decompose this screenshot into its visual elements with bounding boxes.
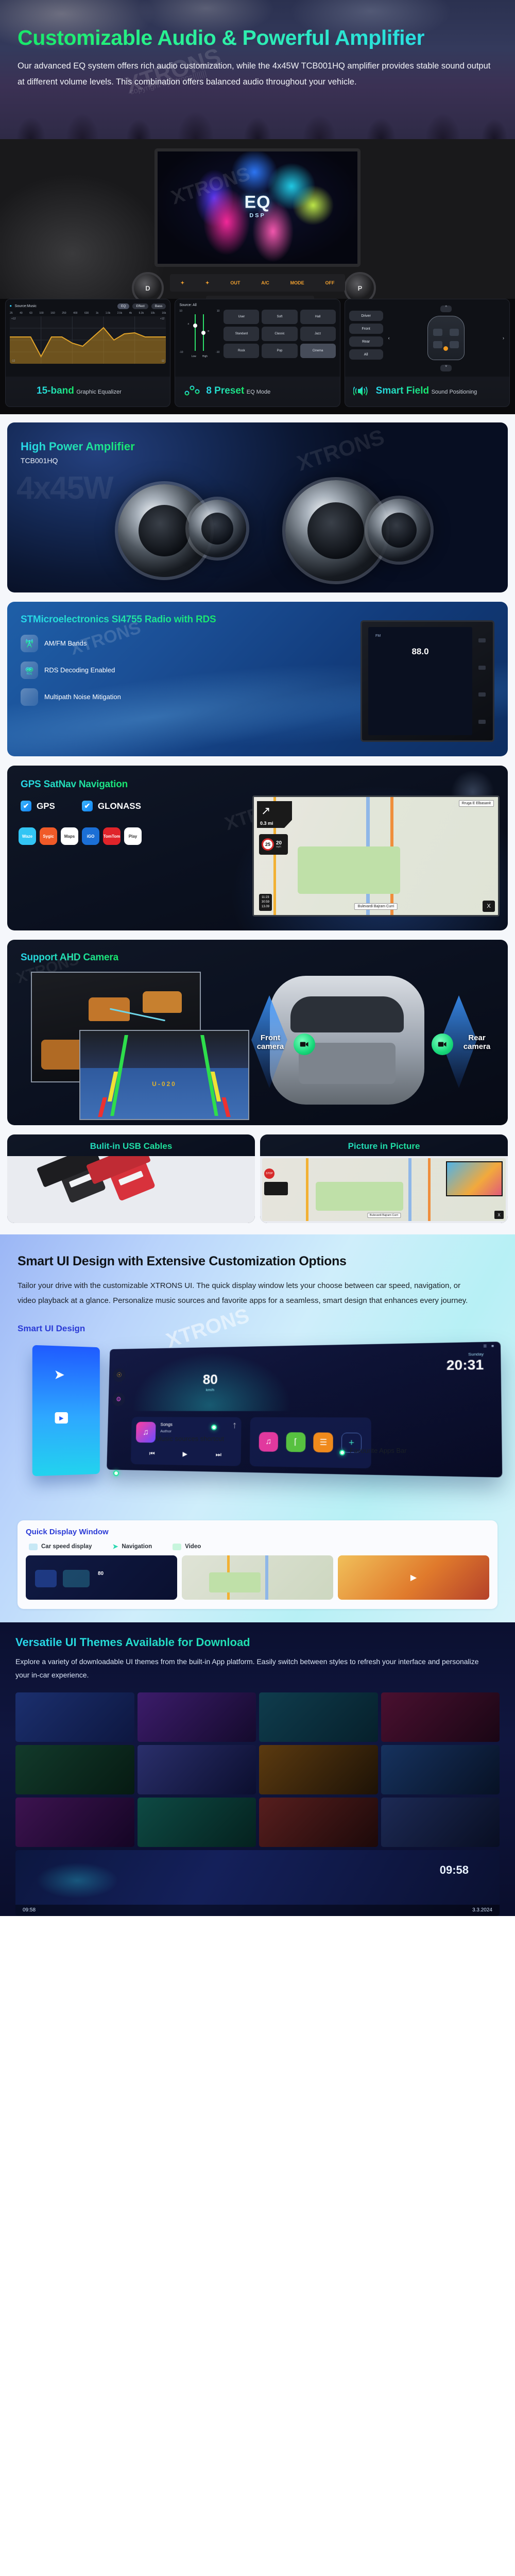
theme-tile[interactable] [259, 1745, 378, 1794]
eta-panel: 11:23 30:59 13.09 [259, 894, 272, 911]
sound-focus-marker[interactable] [443, 346, 448, 351]
feature-label-smartfield: Smart Field Sound Positioning [345, 377, 509, 406]
equalizer-screenshot: ⏺ Source:Music EQ Effect Bass 25 40 63 1… [6, 299, 170, 377]
quick-display-window-card: Quick Display Window Car speed display ➤… [18, 1520, 497, 1609]
previous-track-icon[interactable]: ⏮ [149, 1450, 155, 1458]
axis-label-top-right: +12 [160, 317, 164, 320]
tab-label: Video [185, 1544, 201, 1550]
speed-gauge[interactable]: 80 km/h [132, 1351, 292, 1411]
head-unit-ui-screen[interactable]: ☰ ■ ☉ ⚙ 80 km/h Sunday 20:31 ♫ [107, 1342, 502, 1478]
tab-bass[interactable]: Bass [151, 303, 166, 309]
chevron-down-icon[interactable]: ˅ [440, 365, 452, 371]
dual-card-row: Bulit-in USB Cables Picture in Picture [7, 1134, 508, 1223]
rds-icon: RDS [21, 662, 38, 679]
zone-rear[interactable]: Rear [349, 336, 383, 347]
feature-text-preset: 8 Preset EQ Mode [206, 386, 270, 396]
glonass-checkbox-item[interactable]: ✔ GLONASS [82, 801, 141, 811]
car-seat-map[interactable]: ^ ˅ ‹ › [387, 303, 505, 372]
bullet-label: Multipath Noise Mitigation [44, 693, 121, 701]
bullet-label: AM/FM Bands [44, 639, 87, 648]
power-icon[interactable]: ⏺ [10, 304, 12, 309]
smart-ui-stage: ☰ ■ ☉ ⚙ 80 km/h Sunday 20:31 ♫ [18, 1341, 497, 1511]
list-item: Multipath Noise Mitigation [21, 688, 121, 706]
favourite-apps-bar[interactable]: ♫ ⌈ ☰ + [250, 1417, 371, 1468]
feature-card-smartfield[interactable]: Driver Front Rear All ^ ˅ ‹ › [345, 299, 510, 407]
glonass-check-label: GLONASS [98, 801, 141, 811]
feature-subtitle: EQ Mode [247, 389, 270, 395]
speaker-graphic [368, 499, 431, 562]
freq-tick: 630 [84, 312, 89, 315]
music-title: Songs [160, 1422, 228, 1427]
pip-screenshot: STOP Bulevardi Bajram Curri X [260, 1156, 508, 1223]
theme-tile[interactable] [259, 1798, 378, 1847]
usb-card-title: Bulit-in USB Cables [7, 1134, 255, 1156]
gps-check-label: GPS [37, 801, 55, 811]
theme-featured-tile[interactable]: 09:58 3.3.2024 09:58 [15, 1850, 500, 1916]
theme-preview-clock: 09:58 [440, 1863, 469, 1877]
theme-status-bar: 09:58 3.3.2024 [15, 1905, 500, 1916]
settings-gear-icon[interactable]: ⚙ [112, 1393, 125, 1406]
eq-feature-card-row: ⏺ Source:Music EQ Effect Bass 25 40 63 1… [0, 299, 515, 414]
callout-dot [211, 1425, 217, 1430]
app-icon-play[interactable]: Play [124, 827, 142, 845]
app-icon-igo[interactable]: iGO [82, 827, 99, 845]
feature-text-smartfield: Smart Field Sound Positioning [376, 386, 477, 396]
theme-tile[interactable] [381, 1692, 500, 1742]
slider-low[interactable]: 4 [195, 314, 196, 351]
turn-distance: 0.3 mi [260, 821, 273, 826]
feature-title: Smart Field [376, 385, 429, 396]
themes-paragraph: Explore a variety of downloadable UI the… [15, 1655, 479, 1682]
slider-low-handle[interactable] [193, 324, 197, 328]
preset-standard[interactable]: Standard [224, 327, 259, 341]
feature-text-equalizer: 15-band Graphic Equalizer [37, 386, 122, 396]
play-icon[interactable]: ▶ [182, 1450, 187, 1458]
play-icon[interactable]: ▶ [410, 1572, 417, 1583]
speedometer-icon [29, 1544, 38, 1550]
plate-number: U-020 [152, 1080, 177, 1088]
current-speed: 20 [276, 841, 282, 846]
callout-dot [113, 1470, 119, 1476]
smart-ui-section: Smart UI Design with Extensive Customiza… [0, 1234, 515, 1622]
app-icon-music[interactable]: ♫ [259, 1432, 278, 1452]
tab-video[interactable]: Video [173, 1543, 201, 1551]
freq-tick: 160 [50, 312, 55, 315]
ahd-section: Support AHD Camera XTRONS U-020 [0, 939, 515, 1133]
freq-tick: 1.6k [106, 312, 110, 315]
eq-badge-main: EQ [244, 192, 270, 212]
speed-limit-sign: 25 [262, 838, 274, 851]
front-camera-label-line1: Front [261, 1033, 280, 1042]
preset-soft[interactable]: Soft [262, 310, 297, 324]
clock-time: 20:31 [447, 1357, 484, 1374]
radio-card: STMicroelectronics SI4755 Radio with RDS… [7, 602, 508, 756]
callout-music-shortcut: Music sources shortcut [156, 1435, 224, 1443]
product-page: XTRONS copyright by xtrons||||||| Custom… [0, 0, 515, 1916]
radio-bullet-list: AM/FM Bands RDS [21, 635, 121, 715]
eq-curve-svg [10, 316, 166, 364]
status-time: 09:58 [23, 1907, 36, 1913]
smart-ui-heading: Smart UI Design with Extensive Customiza… [18, 1253, 497, 1270]
tab-label: Car speed display [41, 1544, 92, 1550]
rear-camera-icon [432, 1033, 453, 1055]
hero-section: XTRONS copyright by xtrons||||||| Custom… [0, 0, 515, 139]
theme-tile[interactable] [259, 1692, 378, 1742]
preset-button-grid: User Soft Hall Standard Classic Jazz Roc… [224, 310, 335, 358]
list-item: RDS RDS Decoding Enabled [21, 662, 121, 679]
app-icon-maps[interactable]: Maps [61, 827, 78, 845]
eq-badge: EQ DSP [244, 192, 270, 218]
zone-driver[interactable]: Driver [349, 311, 383, 321]
theme-tile-grid: 09:58 3.3.2024 09:58 [15, 1692, 500, 1916]
source-label: Source:Music [15, 304, 37, 308]
preset-hall[interactable]: Hall [300, 310, 336, 324]
turn-instruction-panel: ↗ 0.3 mi [257, 801, 292, 828]
radio-head-unit-photo: 88.0 FM [360, 620, 494, 742]
pip-card-title: Picture in Picture [260, 1134, 508, 1156]
freq-tick: 400 [73, 312, 77, 315]
app-icon-shop[interactable]: ⌈ [286, 1432, 305, 1452]
next-track-icon[interactable]: ⏭ [216, 1450, 221, 1459]
hero-paragraph: Our advanced EQ system offers rich audio… [18, 58, 497, 90]
speaker-graphic [188, 500, 246, 557]
speed-unit: km/h [206, 1387, 214, 1392]
navigation-arrow-icon: ➤ [112, 1543, 118, 1551]
scale-bottom-left: -10 [179, 351, 183, 354]
axis-label-top-left: +12 [11, 317, 15, 320]
chevron-left-icon[interactable]: ‹ [388, 335, 390, 341]
freq-tick: 40 [20, 312, 23, 315]
ahd-title: Support AHD Camera [21, 952, 118, 963]
feature-card-equalizer[interactable]: ⏺ Source:Music EQ Effect Bass 25 40 63 1… [5, 299, 170, 407]
slider-high[interactable]: 0 [203, 314, 204, 351]
street-name-top: Rruga E Elbasanit [459, 800, 494, 807]
watermark-text: XTRONS [294, 425, 387, 476]
amplifier-watt-watermark: 4x45W [16, 470, 112, 506]
preset-screenshot: Source: All 10 10 4 [175, 299, 339, 377]
theme-tile[interactable] [381, 1798, 500, 1847]
preset-classic[interactable]: Classic [262, 327, 297, 341]
radio-title: STMicroelectronics SI4755 Radio with RDS [21, 614, 216, 625]
feature-title: 15-band [37, 385, 74, 396]
chevron-right-icon[interactable]: › [503, 335, 504, 341]
hvac-button-mode[interactable]: MODE [290, 280, 304, 285]
smartfield-screenshot: Driver Front Rear All ^ ˅ ‹ › [345, 299, 509, 377]
axis-label-bottom-left: -12 [11, 360, 15, 363]
close-map-button[interactable]: X [483, 901, 495, 912]
callout-dot [339, 1450, 345, 1455]
clock-widget[interactable]: Sunday 20:31 [447, 1352, 484, 1374]
preset-header: Source: All [179, 303, 335, 307]
car-outline-graphic [427, 316, 465, 360]
freq-tick: 2.5k [117, 312, 122, 315]
theme-tile[interactable] [15, 1692, 134, 1742]
preset-rock[interactable]: Rock [224, 344, 259, 358]
pip-video-window[interactable] [446, 1161, 503, 1196]
gps-checkbox-row: ✔ GPS ✔ GLONASS [21, 801, 141, 811]
front-camera-label-line2: camera [257, 1042, 284, 1051]
svg-text:RDS: RDS [27, 672, 32, 675]
list-item: AM/FM Bands [21, 635, 121, 652]
check-icon: ✔ [21, 801, 31, 811]
gps-title: GPS SatNav Navigation [21, 779, 128, 790]
axis-label-bottom-right: -12 [161, 360, 164, 363]
freq-tick: 25 [10, 312, 13, 315]
radio-section: STMicroelectronics SI4755 Radio with RDS… [0, 601, 515, 765]
eta-value: 11:23 [262, 895, 269, 900]
eta-value: 30:59 [262, 900, 269, 905]
radio-tower-icon [21, 635, 38, 652]
zone-all[interactable]: All [349, 349, 383, 360]
usb-cable-photo [7, 1156, 255, 1223]
theme-tile[interactable] [138, 1745, 256, 1794]
tab-navigation[interactable]: ➤ Navigation [112, 1543, 152, 1551]
feature-label-preset: 8 Preset EQ Mode [175, 377, 339, 406]
amplifier-section: High Power Amplifier TCB001HQ 4x45W XTRO… [0, 414, 515, 601]
scale-top-left: 10 [179, 310, 182, 313]
hvac-button-ac[interactable]: A/C [261, 280, 269, 285]
rear-camera-label-line1: Rear [468, 1033, 485, 1042]
freq-tick: 6.3k [139, 312, 144, 315]
navigation-arrow-icon[interactable]: ➤ [54, 1366, 65, 1383]
hvac-button-row: ✦ ✦ OUT A/C MODE OFF [170, 274, 345, 292]
smart-ui-paragraph: Tailor your drive with the customizable … [18, 1278, 481, 1309]
battery-icon: ■ [491, 1344, 494, 1348]
app-icon-waze[interactable]: Waze [19, 827, 36, 845]
app-icon-files[interactable]: ☰ [314, 1432, 334, 1452]
eq-badge-sub: DSP [244, 212, 270, 218]
themes-section: Versatile UI Themes Available for Downlo… [0, 1622, 515, 1916]
video-icon[interactable]: ▶ [55, 1412, 68, 1423]
preview-car-speed[interactable]: 80 [26, 1555, 177, 1600]
left-rail: ☉ ⚙ [112, 1368, 129, 1406]
quick-display-heading: Quick Display Window [26, 1528, 489, 1536]
callout-favourite-apps: Favourite Apps Bar [350, 1447, 407, 1454]
tab-eq[interactable]: EQ [117, 303, 129, 309]
check-icon: ✔ [82, 801, 93, 811]
equalizer-header: ⏺ Source:Music EQ Effect Bass [10, 303, 166, 309]
theme-tile[interactable] [15, 1745, 134, 1794]
slider-high-handle[interactable] [201, 331, 205, 335]
eq-showcase-section: EQ DSP D P ✦ ✦ OUT A/C MODE OFF ☀ ☰ AUTO… [0, 139, 515, 414]
head-unit-screen: EQ DSP [154, 148, 360, 267]
theme-tile[interactable] [15, 1798, 134, 1847]
pip-card[interactable]: Picture in Picture STOP Bulevardi Bajram… [260, 1134, 508, 1223]
frequency-tick-labels: 25 40 63 100 160 250 400 630 1k 1.6k 2.5… [10, 312, 166, 315]
rear-camera-label: Rear camera [456, 1033, 497, 1052]
slider-label-low: Low [192, 355, 196, 358]
freq-tick: 10k [151, 312, 155, 315]
tab-car-speed-display[interactable]: Car speed display [29, 1543, 92, 1551]
eta-value: 13.09 [262, 905, 269, 909]
signal-icon: ☰ [483, 1344, 487, 1348]
video-icon [173, 1544, 181, 1550]
theme-tile[interactable] [138, 1798, 256, 1847]
gps-section: GPS SatNav Navigation ✔ GPS ✔ GLONASS Wa… [0, 765, 515, 939]
hvac-fan-up-icon[interactable]: ✦ [180, 280, 184, 286]
preset-user[interactable]: User [224, 310, 259, 324]
preset-cinema[interactable]: Cinema [300, 344, 336, 358]
chevron-up-icon[interactable]: ^ [440, 306, 452, 312]
quick-display-tab-row: Car speed display ➤ Navigation Video [29, 1543, 489, 1551]
quick-display-preview-row: 80 ▶ [26, 1555, 489, 1600]
navigation-map-screenshot[interactable]: ↗ 0.3 mi 25 20 mph 11:23 30:59 13.09 Rru… [252, 795, 500, 917]
hvac-button-out[interactable]: OUT [230, 280, 240, 285]
nav-app-dock: Waze Sygic Maps iGO TomTom Play [19, 827, 142, 845]
gps-checkbox-item[interactable]: ✔ GPS [21, 801, 55, 811]
reverse-camera-photo: U-020 [79, 1030, 249, 1120]
quick-display-panel[interactable]: ➤ ▶ [32, 1345, 100, 1477]
app-icon-tomtom[interactable]: TomTom [103, 827, 121, 845]
close-pip-button[interactable]: X [494, 1211, 504, 1219]
hvac-fan-down-icon[interactable]: ✦ [205, 280, 210, 286]
usb-card[interactable]: Bulit-in USB Cables [7, 1134, 255, 1223]
speed-panel-small [264, 1182, 288, 1195]
rear-camera-label-line2: camera [463, 1042, 491, 1051]
car-top-view [270, 976, 424, 1105]
tab-label: Navigation [122, 1544, 152, 1550]
bluetooth-icon[interactable]: ᛏ [233, 1422, 236, 1444]
feature-label-equalizer: 15-band Graphic Equalizer [6, 377, 170, 406]
waveform-icon [21, 688, 38, 706]
ahd-card: Support AHD Camera XTRONS U-020 [7, 940, 508, 1125]
hvac-button-off[interactable]: OFF [325, 280, 334, 285]
feature-card-preset[interactable]: Source: All 10 10 4 [175, 299, 340, 407]
sliders-icon [183, 383, 201, 399]
preset-sliders[interactable]: 10 10 4 0 [179, 310, 219, 358]
amplifier-card: High Power Amplifier TCB001HQ 4x45W XTRO… [7, 422, 508, 592]
theme-tile[interactable] [138, 1692, 256, 1742]
feature-subtitle: Graphic Equalizer [76, 389, 121, 395]
gps-card: GPS SatNav Navigation ✔ GPS ✔ GLONASS Wa… [7, 766, 508, 930]
preview-navigation[interactable] [182, 1555, 333, 1600]
equalizer-curve-graph[interactable]: +12 +12 -12 -12 [10, 316, 166, 364]
front-camera-label: Front camera [250, 1033, 290, 1052]
freq-tick: 250 [62, 312, 66, 315]
slider-low-value: 4 [187, 323, 189, 325]
app-icon-sygic[interactable]: Sygic [40, 827, 57, 845]
music-album-icon: ♫ [136, 1422, 156, 1443]
freq-tick: 1k [96, 312, 98, 315]
preview-video[interactable]: ▶ [338, 1555, 489, 1600]
equalizer-bars-icon [14, 383, 31, 399]
speaker-waves-icon [353, 383, 371, 399]
speed-panel: 25 20 mph [259, 834, 288, 855]
status-date: 3.3.2024 [472, 1907, 492, 1913]
freq-tick: 63 [29, 312, 32, 315]
amplifier-model: TCB001HQ [21, 456, 58, 465]
feature-subtitle: Sound Positioning [432, 389, 477, 395]
street-name-bottom: Bulevardi Bajram Curri [354, 903, 398, 910]
front-camera-icon [294, 1033, 315, 1055]
bullet-label: RDS Decoding Enabled [44, 666, 115, 674]
dual-card-section: Bulit-in USB Cables Picture in Picture [0, 1133, 515, 1234]
stop-sign-icon: STOP [264, 1168, 274, 1179]
preset-jazz[interactable]: Jazz [300, 327, 336, 341]
music-author: Author [160, 1429, 228, 1434]
speed-value: 80 [202, 1371, 218, 1387]
scale-bottom-right: -10 [216, 351, 219, 354]
zone-button-column: Driver Front Rear All [349, 303, 383, 372]
tab-effect[interactable]: Effect [132, 303, 148, 309]
feature-title: 8 Preset [206, 385, 244, 396]
page-title: Customizable Audio & Powerful Amplifier [18, 27, 497, 49]
radio-app-icon[interactable]: ☉ [113, 1368, 126, 1382]
speed-unit: mph [276, 846, 282, 849]
theme-tile[interactable] [381, 1745, 500, 1794]
source-label: Source: All [179, 303, 196, 307]
freq-tick: 4k [129, 312, 132, 315]
freq-tick: 100 [39, 312, 43, 315]
slider-label-high: High [202, 355, 208, 358]
themes-heading: Versatile UI Themes Available for Downlo… [15, 1636, 500, 1649]
street-name-bottom: Bulevardi Bajram Curri [367, 1213, 401, 1218]
freq-tick: 16k [162, 312, 166, 315]
amplifier-title: High Power Amplifier [21, 440, 135, 453]
smart-ui-subheading: Smart UI Design [18, 1324, 497, 1334]
scale-top-right: 10 [217, 310, 220, 313]
zone-front[interactable]: Front [349, 324, 383, 334]
preset-pop[interactable]: Pop [262, 344, 297, 358]
slider-high-value: 0 [208, 330, 209, 332]
radio-screen: 88.0 FM [368, 627, 472, 735]
